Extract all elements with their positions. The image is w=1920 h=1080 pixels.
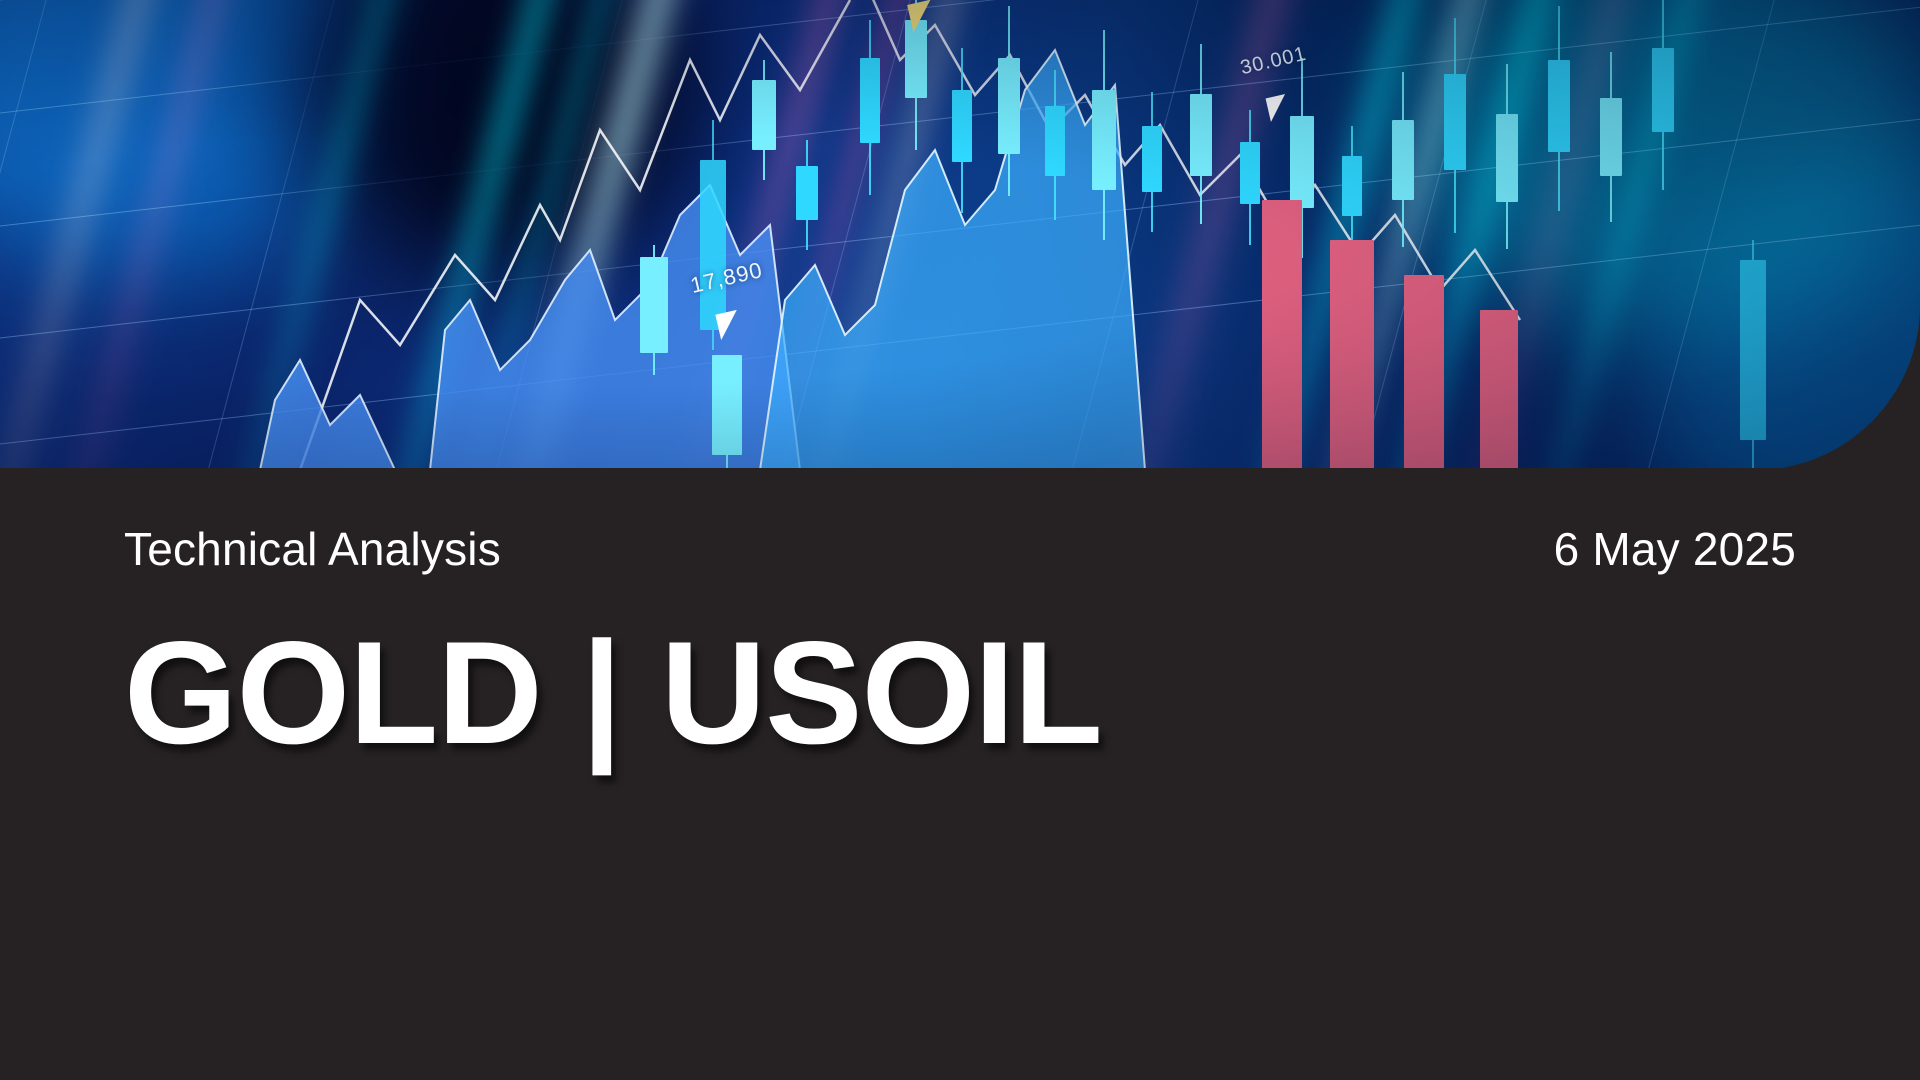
banner-artwork: 17,890 30.001 bbox=[0, 0, 1920, 470]
candlestick-series bbox=[0, 0, 1920, 470]
date-label: 6 May 2025 bbox=[1554, 526, 1796, 572]
content-panel: Technical Analysis 6 May 2025 GOLD | USO… bbox=[0, 468, 1920, 1080]
kicker-label: Technical Analysis bbox=[124, 526, 501, 572]
page-title: GOLD | USOIL bbox=[124, 616, 1102, 769]
banner-chart-image: 17,890 30.001 bbox=[0, 0, 1920, 470]
slide-root: 17,890 30.001 Technical Analysis 6 May 2… bbox=[0, 0, 1920, 1080]
meta-row: Technical Analysis 6 May 2025 bbox=[124, 526, 1796, 572]
